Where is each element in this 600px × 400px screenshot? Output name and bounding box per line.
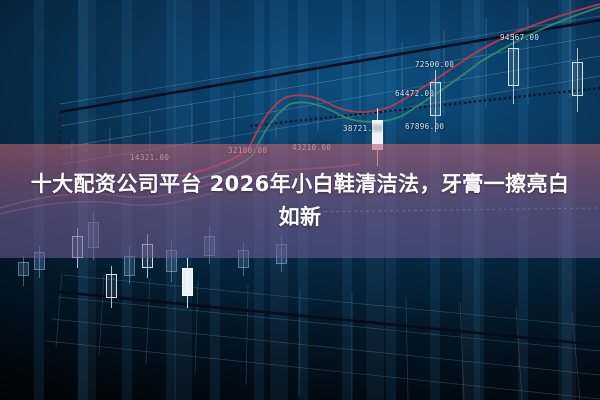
price-label: 67896.00 bbox=[405, 122, 444, 131]
headline-container: 十大配资公司平台 2026年小白鞋清洁法，牙膏一擦亮白如新 bbox=[0, 144, 600, 258]
price-label: 72500.00 bbox=[415, 60, 454, 69]
price-label: 94567.00 bbox=[500, 33, 539, 42]
page-title: 十大配资公司平台 2026年小白鞋清洁法，牙膏一擦亮白如新 bbox=[30, 168, 570, 234]
chart-banner-image: 94567.0072500.0064472.0038721.0067896.00… bbox=[0, 0, 600, 400]
price-label: 64472.00 bbox=[395, 89, 434, 98]
price-label: 38721.00 bbox=[343, 124, 382, 133]
